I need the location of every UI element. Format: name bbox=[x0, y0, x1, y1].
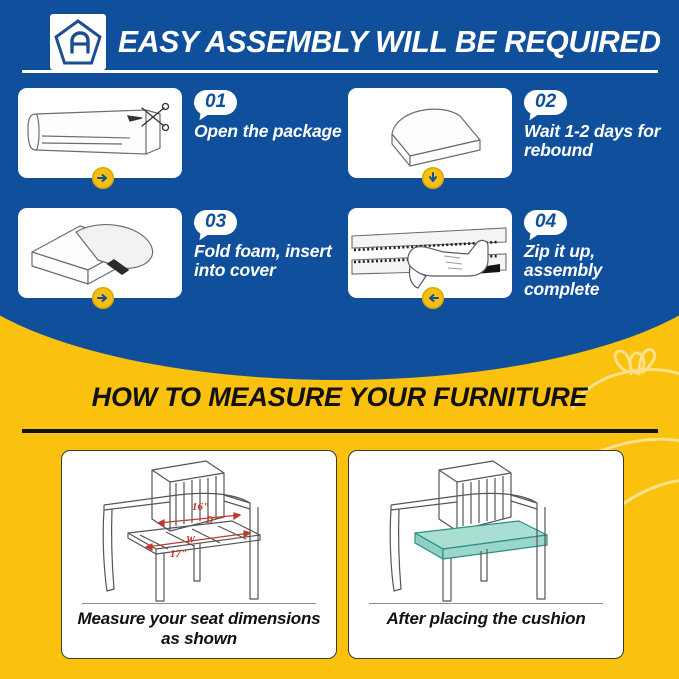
step-04-number: 04 bbox=[524, 210, 567, 235]
steps-row-1: 01 Open the package bbox=[0, 88, 679, 208]
chair-with-measurements-icon: 16" D W 17" bbox=[62, 453, 336, 605]
svg-text:16": 16" bbox=[192, 501, 209, 513]
arrow-down-icon bbox=[422, 167, 444, 189]
measure-card-caption: After placing the cushion bbox=[357, 609, 615, 629]
arrow-right-icon bbox=[92, 167, 114, 189]
step-02-label: Wait 1-2 days for rebound bbox=[524, 122, 674, 160]
package-with-scissors-icon bbox=[18, 88, 182, 178]
card-divider bbox=[82, 603, 316, 604]
step-02-number: 02 bbox=[524, 90, 567, 115]
measure-card-dimensions: 16" D W 17" Measure your seat dimensions… bbox=[61, 450, 337, 659]
step-03-label: Fold foam, insert into cover bbox=[194, 242, 344, 280]
header: EASY ASSEMBLY WILL BE REQUIRED bbox=[0, 0, 679, 78]
arrow-left-icon bbox=[422, 287, 444, 309]
foam-into-cover-icon bbox=[18, 208, 182, 298]
measure-divider bbox=[22, 429, 658, 433]
step-01-label: Open the package bbox=[194, 122, 344, 141]
card-divider bbox=[369, 603, 603, 604]
foam-cushion-icon bbox=[348, 88, 512, 178]
step-02-text: 02 Wait 1-2 days for rebound bbox=[524, 90, 674, 160]
chair-with-cushion-icon bbox=[349, 453, 623, 605]
measure-card-caption: Measure your seat dimensions as shown bbox=[70, 609, 328, 649]
step-01-text: 01 Open the package bbox=[194, 90, 344, 141]
page-title: EASY ASSEMBLY WILL BE REQUIRED bbox=[118, 17, 661, 67]
svg-text:17": 17" bbox=[170, 548, 187, 560]
steps-row-2: 03 Fold foam, insert into cover bbox=[0, 208, 679, 328]
step-04-label: Zip it up, assembly complete bbox=[524, 242, 674, 299]
step-04-text: 04 Zip it up, assembly complete bbox=[524, 210, 674, 299]
measure-section-title: HOW TO MEASURE YOUR FURNITURE bbox=[0, 381, 679, 413]
step-02: 02 Wait 1-2 days for rebound bbox=[348, 88, 670, 188]
house-pentagon-logo-icon bbox=[50, 14, 106, 70]
step-04: 04 Zip it up, assembly complete bbox=[348, 208, 670, 308]
step-03: 03 Fold foam, insert into cover bbox=[18, 208, 340, 308]
measure-cards: 16" D W 17" Measure your seat dimensions… bbox=[0, 450, 679, 665]
step-01-number: 01 bbox=[194, 90, 237, 115]
step-03-number: 03 bbox=[194, 210, 237, 235]
arrow-right-icon bbox=[92, 287, 114, 309]
assembly-steps: 01 Open the package bbox=[0, 88, 679, 328]
measure-card-cushion: After placing the cushion bbox=[348, 450, 624, 659]
svg-text:W: W bbox=[186, 535, 196, 546]
svg-text:D: D bbox=[205, 515, 213, 526]
infographic-page: EASY ASSEMBLY WILL BE REQUIRED bbox=[0, 0, 679, 679]
hand-zipping-icon bbox=[348, 208, 512, 298]
step-03-text: 03 Fold foam, insert into cover bbox=[194, 210, 344, 280]
header-divider bbox=[22, 70, 658, 73]
step-01: 01 Open the package bbox=[18, 88, 340, 188]
